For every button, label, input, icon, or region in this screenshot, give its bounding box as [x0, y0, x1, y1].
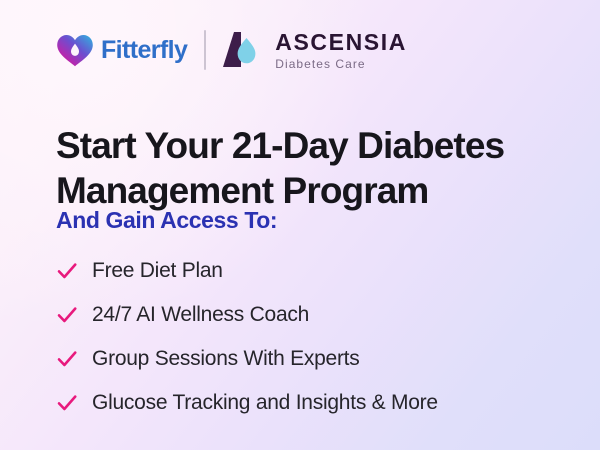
fitterfly-wordmark: Fitterfly [101, 38, 187, 63]
fitterfly-heart-icon [56, 34, 94, 67]
benefit-label: Group Sessions With Experts [92, 347, 360, 370]
fitterfly-logo: Fitterfly [56, 34, 187, 67]
headline: Start Your 21-Day DiabetesManagement Pro… [56, 123, 576, 213]
headline-line-1: Start Your 21-Day Diabetes [56, 125, 504, 166]
ascensia-tagline: Diabetes Care [275, 58, 407, 70]
ascensia-droplet-icon [221, 29, 267, 71]
ascensia-logo: ASCENSIA Diabetes Care [221, 29, 407, 71]
check-icon [56, 304, 78, 326]
promo-banner: Fitterfly ASCENSIA Diabetes Care Start Y… [0, 0, 600, 450]
list-item: Free Diet Plan [56, 249, 576, 293]
benefit-label: 24/7 AI Wellness Coach [92, 303, 309, 326]
ascensia-text-block: ASCENSIA Diabetes Care [275, 31, 407, 70]
logo-strip: Fitterfly ASCENSIA Diabetes Care [56, 26, 407, 74]
ascensia-name: ASCENSIA [275, 31, 407, 54]
headline-line-2: Management Program [56, 170, 428, 211]
check-icon [56, 260, 78, 282]
list-item: 24/7 AI Wellness Coach [56, 293, 576, 337]
subheading: And Gain Access To: [56, 209, 277, 232]
list-item: Glucose Tracking and Insights & More [56, 381, 576, 425]
list-item: Group Sessions With Experts [56, 337, 576, 381]
benefit-label: Free Diet Plan [92, 259, 223, 282]
benefit-label: Glucose Tracking and Insights & More [92, 391, 438, 414]
logo-divider [204, 30, 206, 70]
check-icon [56, 348, 78, 370]
check-icon [56, 392, 78, 414]
benefits-list: Free Diet Plan 24/7 AI Wellness Coach Gr… [56, 249, 576, 425]
